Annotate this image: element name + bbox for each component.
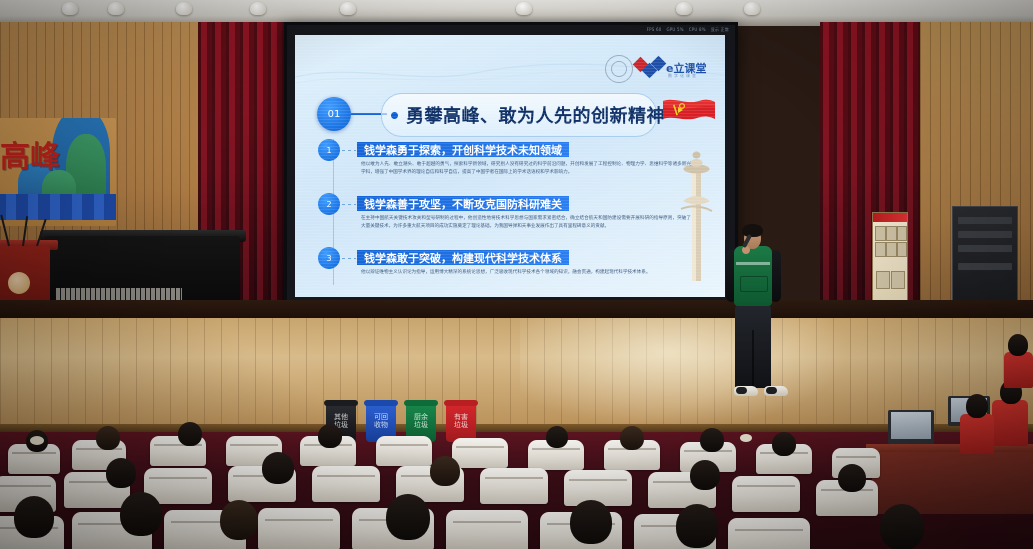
poster-photo-cell [875,242,886,257]
stage-light-pool [520,318,850,430]
poster-photo-cell [886,242,897,257]
projection-screen: FPS 60 GPU 5% CPU 8% 显示 正常 e立课堂 数字化课堂 01 [284,22,738,306]
audience-head [318,424,342,448]
rack-slot [958,231,1012,238]
bin-lid [404,400,438,406]
waste-bin-hazardous: 有害垃圾 [446,404,476,442]
audience-seat [480,468,548,504]
mural-characters: 高峰 [0,132,60,176]
point-tick [342,150,356,151]
section-number-badge: 01 [317,97,351,131]
audience-head [570,500,612,544]
point-body: 在主持中国航天关键技术攻关和型号研制的过程中，他创造性地将技术科学思想与国家需求… [361,215,691,232]
staff-head [966,394,988,418]
audience-head [262,452,294,484]
poster-photo-cell [897,242,907,257]
bin-lid [324,400,358,406]
audience-head [120,492,162,536]
poster-photo-cell [891,271,905,289]
staff-vest-red [960,414,994,454]
point-heading: 钱学森善于攻坚，不断攻克国防科研难关 [357,196,569,211]
point-tick [342,258,356,259]
presentation-slide: e立课堂 数字化课堂 01 勇攀高峰、敢为人先的创新精神 [295,35,725,297]
presenter-shoe-right [764,386,788,396]
poster-photo-cell [875,226,886,241]
audience-head [838,464,866,492]
ceiling-spotlight [62,2,78,15]
audience-seat [312,466,380,502]
presenter-hair [742,224,763,237]
ceiling-spotlight [340,2,356,15]
slide-title-pill: 勇攀高峰、敢为人先的创新精神 [381,93,657,137]
ceiling-spotlight [176,2,192,15]
point-heading: 钱学森勇于探索，开创科学技术未知领域 [357,142,569,157]
osd-item: 显示 正常 [711,27,729,33]
ceiling-spotlight [676,2,692,15]
rack-slot [958,245,1012,252]
poster-photo-cell [897,226,907,241]
audience-head [14,496,54,538]
audience-hair-tie [30,436,44,445]
osd-status-overlay: FPS 60 GPU 5% CPU 8% 显示 正常 [647,27,729,33]
audience-hair-tie [740,434,752,442]
poster-header-banner [873,213,907,222]
poster-photo-cell [876,271,890,289]
audience-head [546,426,568,448]
title-bullet-dot [391,112,398,119]
point-body: 他以敢为人先、敢立潮头、敢于超越的勇气，探索科学新领域，研究别人没有研究过的科学… [361,161,691,178]
stage-floor [0,318,1033,430]
presenter-shoe-left [734,386,758,396]
mural-waves [0,194,116,220]
audience-head [220,500,258,540]
bin-lid [444,400,478,406]
point-number-badge: 1 [318,139,340,161]
point-body: 他以辩证唯物主义认识论为指导，运用博大精深的系统论思想，广泛吸收现代科学技术各个… [361,269,651,277]
brand-logo: e立课堂 数字化课堂 [633,51,717,83]
presenter-vest-stripe [736,262,770,265]
audience-head [430,456,460,486]
slide-title: 勇攀高峰、敢为人先的创新精神 [406,102,665,128]
audience-head [386,494,430,540]
audience-seat [452,438,508,468]
brand-logo-subtext: 数字化课堂 [668,73,698,79]
podium-emblem [8,272,30,294]
audience-head [620,426,644,450]
party-flag-icon [661,95,717,129]
audience-seat [732,476,800,512]
ceiling-spotlight [744,2,760,15]
audience-seat [446,510,528,549]
audience-seat [258,508,340,549]
osd-item: GPU 5% [667,27,684,33]
rack-slot [958,217,1012,224]
staff-vest-red [992,400,1028,446]
audience-seat [376,436,432,466]
audience-head [690,460,720,490]
point-number-badge: 3 [318,247,340,269]
poster-photo-cell [886,226,897,241]
staff-vest-red [1004,352,1033,388]
bin-label: 厨余垃圾 [414,414,429,429]
presenter-leg-gap [752,330,754,388]
bin-lid [364,400,398,406]
ceiling-spotlight [108,2,124,15]
ceiling-spotlight [516,2,532,15]
audience-head [880,504,924,549]
audience-head [106,458,136,488]
bin-label: 有害垃圾 [454,414,469,429]
point-number-badge: 2 [318,193,340,215]
institution-seal-logo [605,55,633,83]
osd-item: CPU 8% [689,27,706,33]
point-tick [342,204,356,205]
audience-head [676,504,718,548]
bin-label: 可回收物 [374,414,389,429]
laptop-screen [891,412,931,439]
piano-keys [56,288,182,300]
laptop-left [888,410,934,444]
audience-head [772,432,796,456]
presenter-vest-pocket [740,276,768,292]
auditorium-photo: 高峰 FPS 60 GPU 5% CPU 8% 显示 正常 e立课堂 [0,0,1033,549]
audience-seat [728,518,810,549]
audience-head [700,428,724,452]
osd-item: FPS 60 [647,27,662,33]
wall-mural: 高峰 [0,118,116,226]
audience-head [96,426,120,450]
ceiling-spotlight [250,2,266,15]
audience-head [178,422,202,446]
rack-slot [958,263,1012,270]
staff-head [1008,334,1028,356]
point-heading: 钱学森敢于突破，构建现代科学技术体系 [357,250,569,265]
